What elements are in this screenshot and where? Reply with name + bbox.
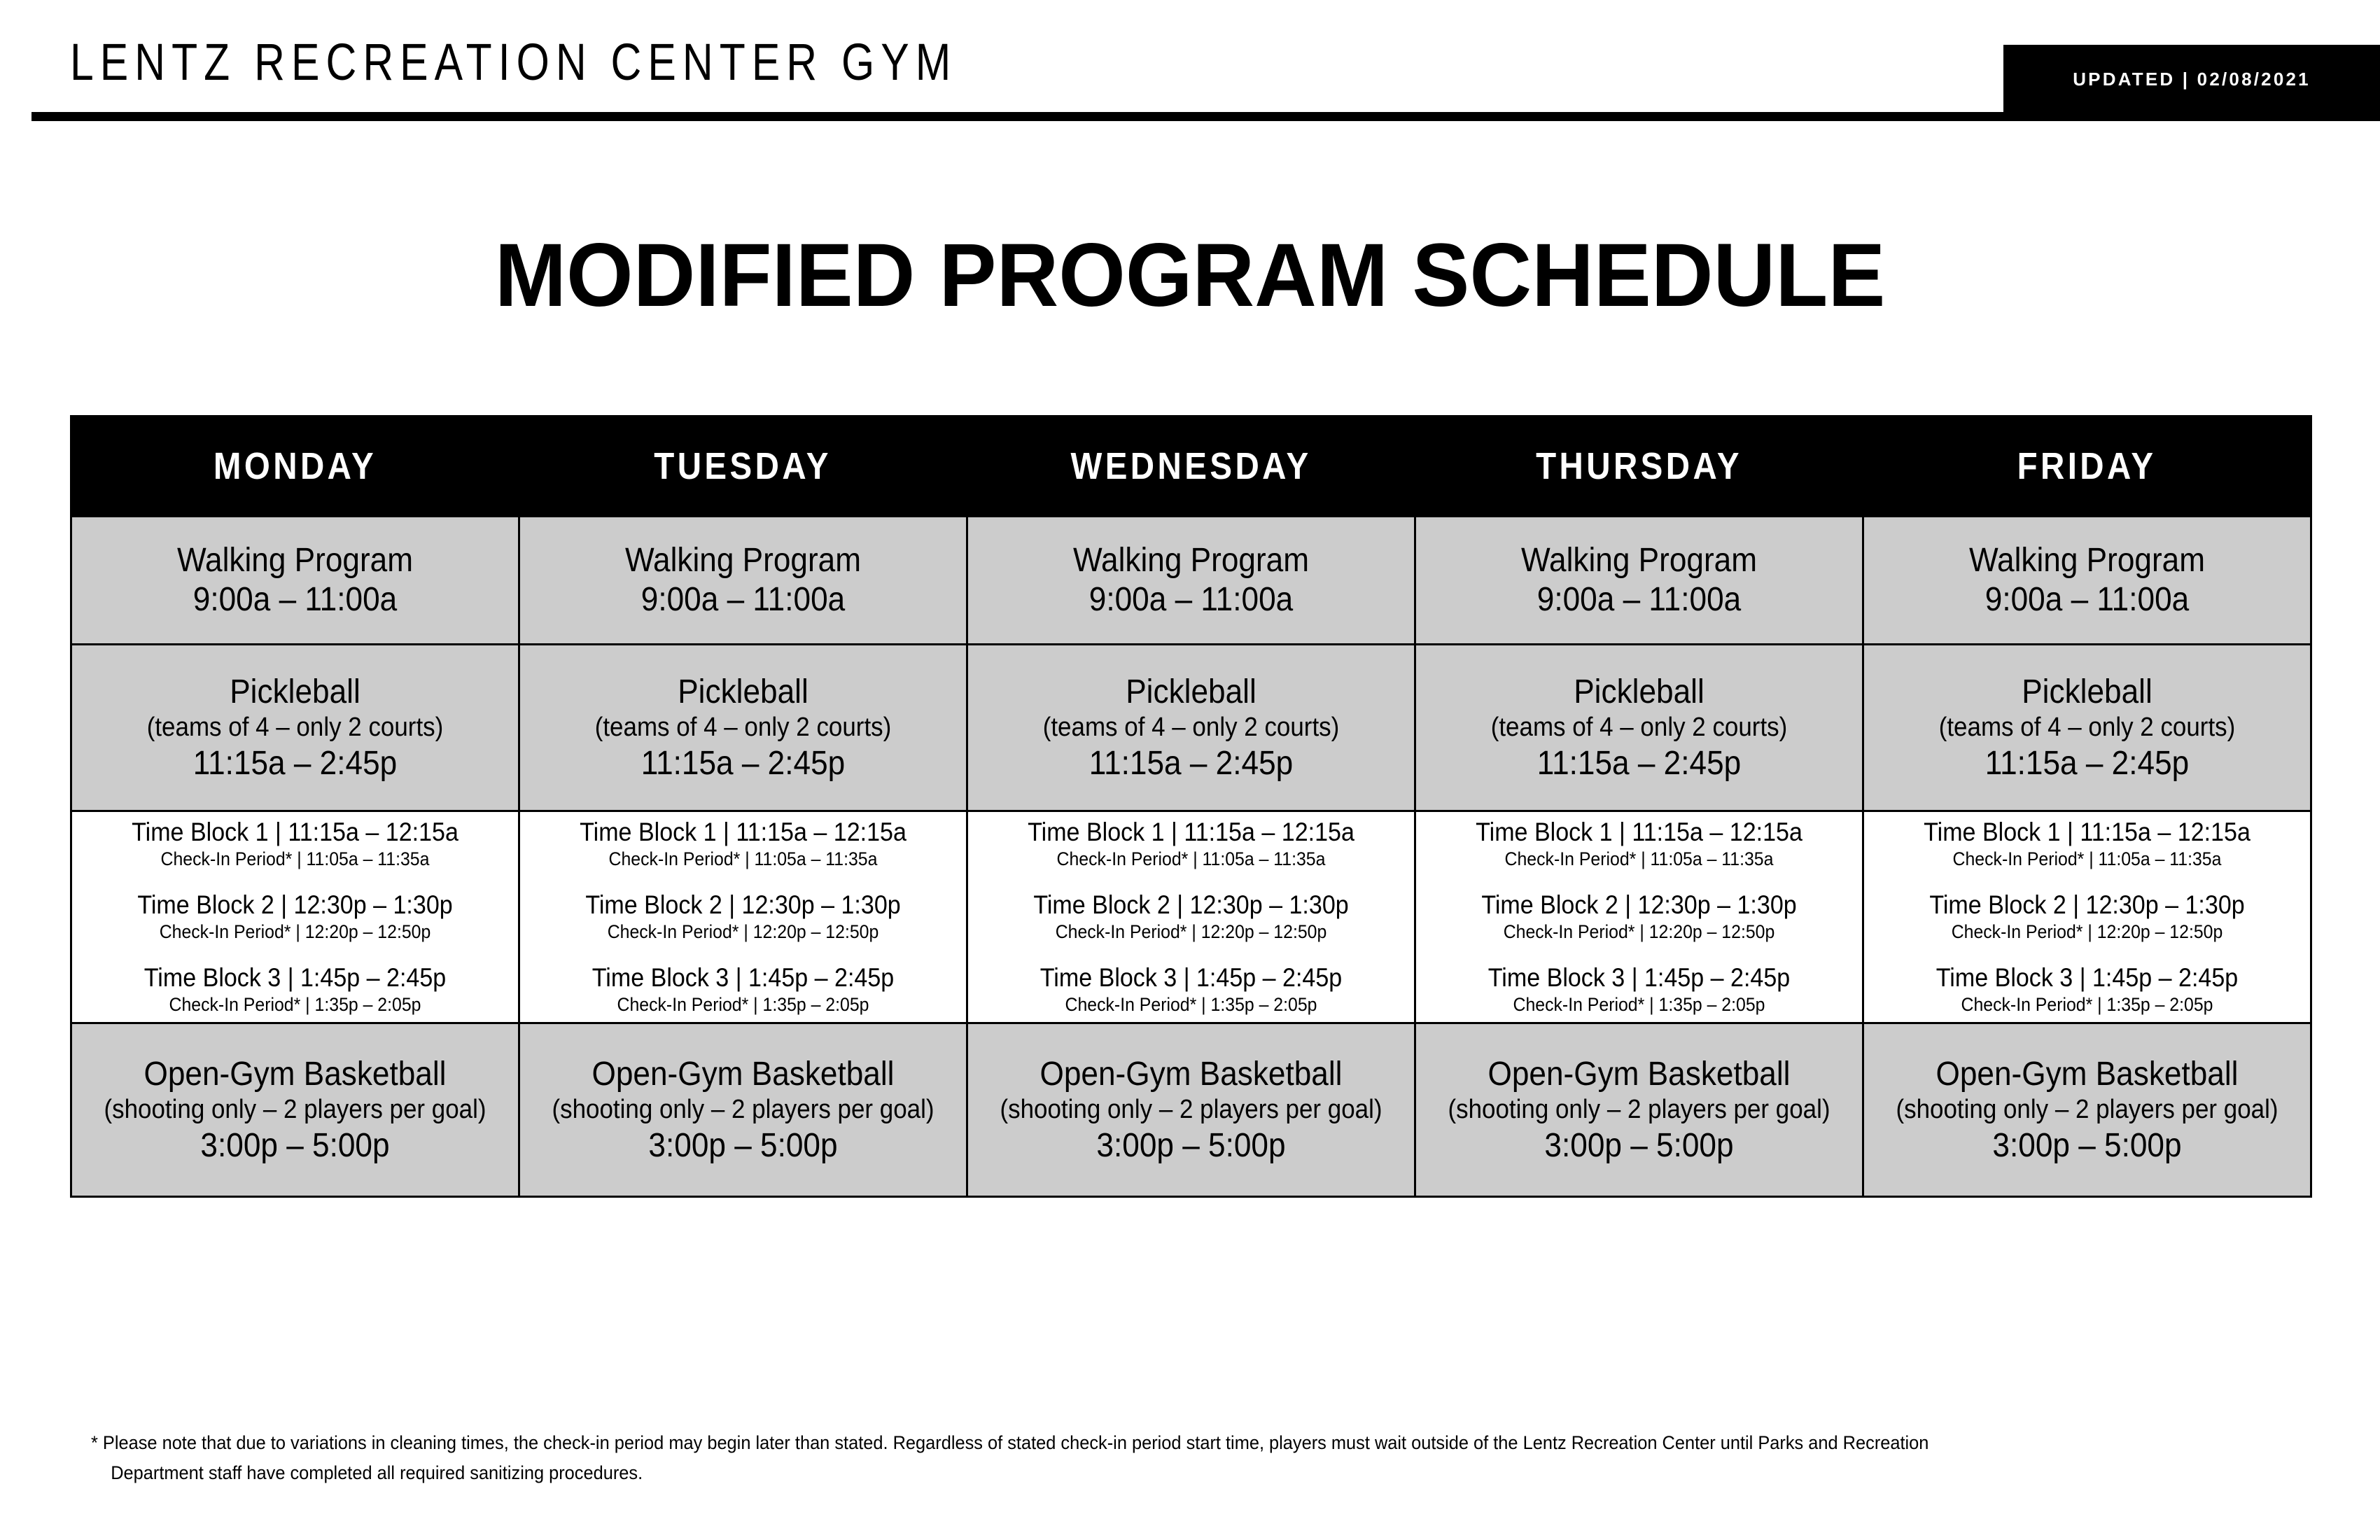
updated-badge: UPDATED | 02/08/2021 [2003, 45, 2380, 113]
program-name: Walking Program [1884, 541, 2290, 580]
time-block-entry: Time Block 2 | 12:30p – 1:30p Check-In P… [971, 890, 1411, 944]
program-time: 11:15a – 2:45p [92, 744, 498, 783]
cell-pickleball-wednesday: Pickleball (teams of 4 – only 2 courts) … [967, 645, 1415, 811]
check-in-period: Check-In Period* | 12:20p – 12:50p [92, 920, 498, 944]
program-time: 3:00p – 5:00p [92, 1126, 498, 1165]
check-in-period: Check-In Period* | 1:35p – 2:05p [988, 993, 1394, 1017]
footnote: * Please note that due to variations in … [91, 1428, 2164, 1488]
time-block-entry: Time Block 3 | 1:45p – 2:45p Check-In Pe… [75, 962, 515, 1017]
cell-walking-thursday: Walking Program 9:00a – 11:00a [1415, 517, 1863, 645]
cell-basketball-thursday: Open-Gym Basketball (shooting only – 2 p… [1415, 1023, 1863, 1197]
time-block-entry: Time Block 3 | 1:45p – 2:45p Check-In Pe… [971, 962, 1411, 1017]
check-in-period: Check-In Period* | 11:05a – 11:35a [92, 848, 498, 871]
day-header-thursday: THURSDAY [1415, 416, 1863, 517]
page-header: LENTZ RECREATION CENTER GYM UPDATED | 02… [0, 0, 2380, 133]
time-block-title: Time Block 2 | 12:30p – 1:30p [540, 890, 946, 920]
footnote-line-1: * Please note that due to variations in … [91, 1428, 2164, 1458]
check-in-period: Check-In Period* | 11:05a – 11:35a [988, 848, 1394, 871]
program-name: Pickleball [1436, 673, 1842, 712]
day-header-friday: FRIDAY [1863, 416, 2311, 517]
cell-timeblocks-monday: Time Block 1 | 11:15a – 12:15a Check-In … [71, 811, 519, 1023]
program-time: 11:15a – 2:45p [988, 744, 1394, 783]
cell-walking-wednesday: Walking Program 9:00a – 11:00a [967, 517, 1415, 645]
time-block-title: Time Block 3 | 1:45p – 2:45p [988, 962, 1394, 993]
day-header-monday: MONDAY [71, 416, 519, 517]
table-row-pickleball: Pickleball (teams of 4 – only 2 courts) … [71, 645, 2311, 811]
program-time: 11:15a – 2:45p [1436, 744, 1842, 783]
program-time: 9:00a – 11:00a [1884, 580, 2290, 619]
program-note: (teams of 4 – only 2 courts) [1884, 711, 2290, 743]
time-block-title: Time Block 1 | 11:15a – 12:15a [1884, 817, 2290, 848]
check-in-period: Check-In Period* | 12:20p – 12:50p [1884, 920, 2290, 944]
cell-pickleball-friday: Pickleball (teams of 4 – only 2 courts) … [1863, 645, 2311, 811]
program-note: (teams of 4 – only 2 courts) [1436, 711, 1842, 743]
schedule-table: MONDAY TUESDAY WEDNESDAY THURSDAY FRIDAY… [70, 415, 2312, 1198]
check-in-period: Check-In Period* | 1:35p – 2:05p [1436, 993, 1842, 1017]
time-block-title: Time Block 3 | 1:45p – 2:45p [1436, 962, 1842, 993]
time-block-entry: Time Block 3 | 1:45p – 2:45p Check-In Pe… [1419, 962, 1859, 1017]
check-in-period: Check-In Period* | 1:35p – 2:05p [92, 993, 498, 1017]
time-block-title: Time Block 2 | 12:30p – 1:30p [988, 890, 1394, 920]
time-block-title: Time Block 3 | 1:45p – 2:45p [92, 962, 498, 993]
program-name: Open-Gym Basketball [92, 1055, 498, 1094]
cell-pickleball-tuesday: Pickleball (teams of 4 – only 2 courts) … [519, 645, 967, 811]
program-note: (teams of 4 – only 2 courts) [988, 711, 1394, 743]
cell-walking-tuesday: Walking Program 9:00a – 11:00a [519, 517, 967, 645]
program-name: Walking Program [988, 541, 1394, 580]
program-name: Open-Gym Basketball [540, 1055, 946, 1094]
program-name: Open-Gym Basketball [1436, 1055, 1842, 1094]
day-header-label: FRIDAY [2017, 444, 2157, 488]
time-block-entry: Time Block 2 | 12:30p – 1:30p Check-In P… [1867, 890, 2307, 944]
program-note: (teams of 4 – only 2 courts) [540, 711, 946, 743]
program-name: Walking Program [540, 541, 946, 580]
program-time: 11:15a – 2:45p [1884, 744, 2290, 783]
program-note: (teams of 4 – only 2 courts) [92, 711, 498, 743]
footnote-line-2: Department staff have completed all requ… [91, 1458, 2164, 1488]
cell-walking-friday: Walking Program 9:00a – 11:00a [1863, 517, 2311, 645]
cell-basketball-monday: Open-Gym Basketball (shooting only – 2 p… [71, 1023, 519, 1197]
program-note: (shooting only – 2 players per goal) [988, 1093, 1394, 1126]
time-block-title: Time Block 1 | 11:15a – 12:15a [540, 817, 946, 848]
day-header-wednesday: WEDNESDAY [967, 416, 1415, 517]
time-block-entry: Time Block 2 | 12:30p – 1:30p Check-In P… [75, 890, 515, 944]
day-header-label: THURSDAY [1536, 444, 1742, 488]
header-divider-rule [31, 112, 2380, 121]
program-name: Pickleball [540, 673, 946, 712]
cell-basketball-wednesday: Open-Gym Basketball (shooting only – 2 p… [967, 1023, 1415, 1197]
check-in-period: Check-In Period* | 12:20p – 12:50p [988, 920, 1394, 944]
program-time: 11:15a – 2:45p [540, 744, 946, 783]
program-time: 9:00a – 11:00a [988, 580, 1394, 619]
time-block-entry: Time Block 1 | 11:15a – 12:15a Check-In … [971, 817, 1411, 871]
time-block-entry: Time Block 2 | 12:30p – 1:30p Check-In P… [1419, 890, 1859, 944]
program-name: Pickleball [988, 673, 1394, 712]
program-time: 9:00a – 11:00a [92, 580, 498, 619]
time-block-entry: Time Block 1 | 11:15a – 12:15a Check-In … [75, 817, 515, 871]
day-header-label: MONDAY [213, 444, 377, 488]
cell-basketball-tuesday: Open-Gym Basketball (shooting only – 2 p… [519, 1023, 967, 1197]
time-block-title: Time Block 1 | 11:15a – 12:15a [92, 817, 498, 848]
check-in-period: Check-In Period* | 12:20p – 12:50p [540, 920, 946, 944]
cell-walking-monday: Walking Program 9:00a – 11:00a [71, 517, 519, 645]
time-block-entry: Time Block 1 | 11:15a – 12:15a Check-In … [1419, 817, 1859, 871]
program-name: Walking Program [92, 541, 498, 580]
check-in-period: Check-In Period* | 12:20p – 12:50p [1436, 920, 1842, 944]
program-name: Open-Gym Basketball [988, 1055, 1394, 1094]
time-block-title: Time Block 2 | 12:30p – 1:30p [1436, 890, 1842, 920]
facility-title: LENTZ RECREATION CENTER GYM [70, 36, 957, 88]
program-note: (shooting only – 2 players per goal) [540, 1093, 946, 1126]
cell-timeblocks-wednesday: Time Block 1 | 11:15a – 12:15a Check-In … [967, 811, 1415, 1023]
time-block-title: Time Block 2 | 12:30p – 1:30p [92, 890, 498, 920]
cell-basketball-friday: Open-Gym Basketball (shooting only – 2 p… [1863, 1023, 2311, 1197]
program-time: 9:00a – 11:00a [1436, 580, 1842, 619]
time-block-entry: Time Block 3 | 1:45p – 2:45p Check-In Pe… [1867, 962, 2307, 1017]
program-time: 3:00p – 5:00p [1884, 1126, 2290, 1165]
check-in-period: Check-In Period* | 1:35p – 2:05p [1884, 993, 2290, 1017]
cell-pickleball-monday: Pickleball (teams of 4 – only 2 courts) … [71, 645, 519, 811]
updated-badge-label: UPDATED | 02/08/2021 [2073, 69, 2311, 90]
time-block-entry: Time Block 1 | 11:15a – 12:15a Check-In … [523, 817, 963, 871]
cell-timeblocks-tuesday: Time Block 1 | 11:15a – 12:15a Check-In … [519, 811, 967, 1023]
time-block-title: Time Block 1 | 11:15a – 12:15a [1436, 817, 1842, 848]
program-time: 3:00p – 5:00p [1436, 1126, 1842, 1165]
time-block-entry: Time Block 1 | 11:15a – 12:15a Check-In … [1867, 817, 2307, 871]
time-block-title: Time Block 1 | 11:15a – 12:15a [988, 817, 1394, 848]
program-name: Open-Gym Basketball [1884, 1055, 2290, 1094]
program-note: (shooting only – 2 players per goal) [92, 1093, 498, 1126]
cell-timeblocks-friday: Time Block 1 | 11:15a – 12:15a Check-In … [1863, 811, 2311, 1023]
time-block-title: Time Block 3 | 1:45p – 2:45p [1884, 962, 2290, 993]
program-time: 9:00a – 11:00a [540, 580, 946, 619]
time-block-entry: Time Block 3 | 1:45p – 2:45p Check-In Pe… [523, 962, 963, 1017]
table-header-row: MONDAY TUESDAY WEDNESDAY THURSDAY FRIDAY [71, 416, 2311, 517]
check-in-period: Check-In Period* | 11:05a – 11:35a [540, 848, 946, 871]
table-row-walking-program: Walking Program 9:00a – 11:00a Walking P… [71, 517, 2311, 645]
time-block-title: Time Block 2 | 12:30p – 1:30p [1884, 890, 2290, 920]
time-block-entry: Time Block 2 | 12:30p – 1:30p Check-In P… [523, 890, 963, 944]
time-block-title: Time Block 3 | 1:45p – 2:45p [540, 962, 946, 993]
cell-pickleball-thursday: Pickleball (teams of 4 – only 2 courts) … [1415, 645, 1863, 811]
check-in-period: Check-In Period* | 1:35p – 2:05p [540, 993, 946, 1017]
program-note: (shooting only – 2 players per goal) [1436, 1093, 1842, 1126]
program-time: 3:00p – 5:00p [540, 1126, 946, 1165]
day-header-tuesday: TUESDAY [519, 416, 967, 517]
program-name: Walking Program [1436, 541, 1842, 580]
program-note: (shooting only – 2 players per goal) [1884, 1093, 2290, 1126]
table-row-time-blocks: Time Block 1 | 11:15a – 12:15a Check-In … [71, 811, 2311, 1023]
day-header-label: WEDNESDAY [1070, 444, 1311, 488]
table-row-open-gym-basketball: Open-Gym Basketball (shooting only – 2 p… [71, 1023, 2311, 1197]
program-time: 3:00p – 5:00p [988, 1126, 1394, 1165]
day-header-label: TUESDAY [654, 444, 832, 488]
page-title: MODIFIED PROGRAM SCHEDULE [48, 231, 2332, 321]
program-name: Pickleball [1884, 673, 2290, 712]
program-name: Pickleball [92, 673, 498, 712]
check-in-period: Check-In Period* | 11:05a – 11:35a [1436, 848, 1842, 871]
cell-timeblocks-thursday: Time Block 1 | 11:15a – 12:15a Check-In … [1415, 811, 1863, 1023]
check-in-period: Check-In Period* | 11:05a – 11:35a [1884, 848, 2290, 871]
